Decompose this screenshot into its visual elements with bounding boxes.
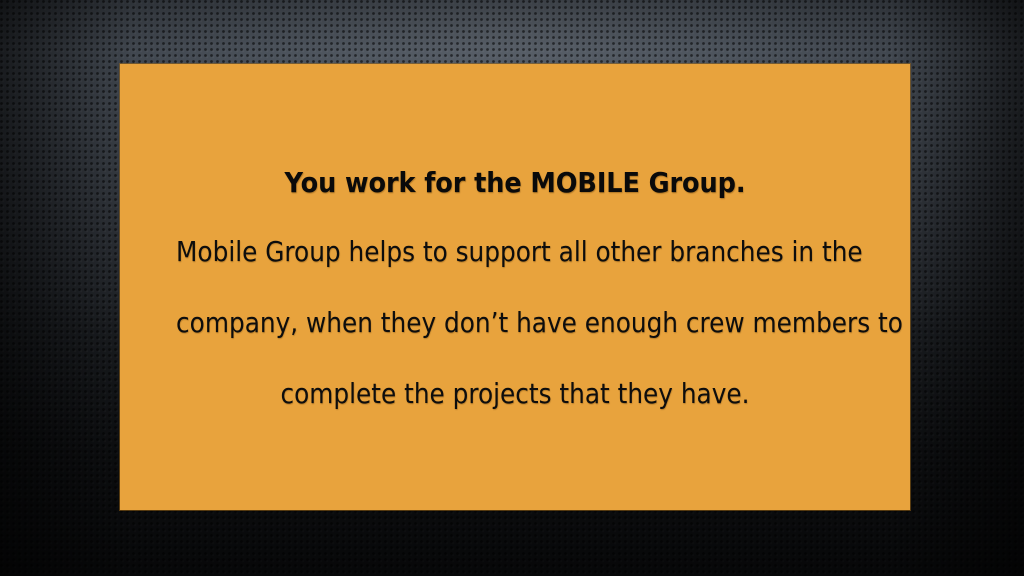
presentation-slide: You work for the MOBILE Group. Mobile Gr… (0, 0, 1024, 576)
content-panel: You work for the MOBILE Group. Mobile Gr… (120, 64, 910, 510)
slide-title: You work for the MOBILE Group. (159, 167, 871, 200)
slide-body-text: Mobile Group helps to support all other … (132, 238, 898, 408)
body-line: company, when they don’t have enough cre… (176, 309, 854, 337)
body-line: Mobile Group helps to support all other … (176, 238, 854, 266)
body-line: complete the projects that they have. (176, 380, 854, 408)
